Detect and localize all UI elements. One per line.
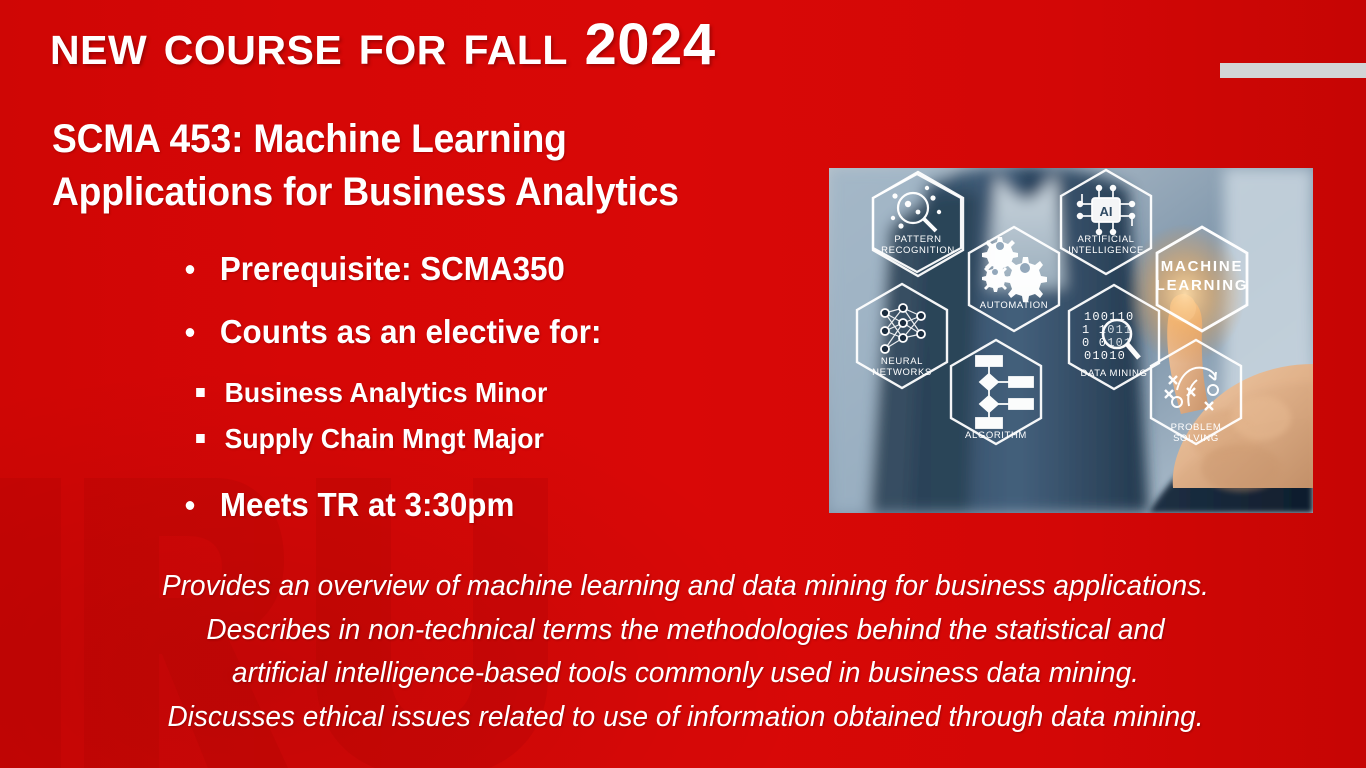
bullet-dot-icon [186,265,195,274]
bullet-list: Prerequisite: SCMA350 Counts as an elect… [180,250,820,549]
description-line-1: Provides an overview of machine learning… [70,565,1300,609]
bullet-label: Counts as an elective for: [220,313,602,350]
hexagon-label-problem-solving-line2: SOLVING [1173,433,1219,444]
hexagon-label-automation: AUTOMATION [980,300,1048,311]
hexagon-label-artificial-intelligence-line1: ARTIFICIAL [1077,234,1134,245]
sub-bullet-label: Supply Chain Mngt Major [225,423,544,454]
slide-canvas: New Course For Fall 2024 SCMA 453: Machi… [0,0,1366,768]
course-description: Provides an overview of machine learning… [70,565,1300,739]
page-title: New Course For Fall 2024 [50,15,716,76]
bullet-square-icon [196,388,205,397]
hexagon-label-pattern-recognition-line1: PATTERN [894,234,941,245]
hexagon-label-machine-learning-line1: MACHINE [1161,258,1244,275]
bullet-square-icon [196,434,205,443]
machine-learning-photo: PATTERN RECOGNITION [829,168,1313,513]
bullet-label: Prerequisite: SCMA350 [220,250,565,287]
accent-bar [1220,63,1366,78]
bullet-dot-icon [186,328,195,337]
bullet-item-prerequisite: Prerequisite: SCMA350 [180,250,788,289]
hexagon-label-problem-solving-line1: PROBLEM [1171,422,1222,433]
description-line-4: Discusses ethical issues related to use … [70,696,1300,740]
sub-bullet-item-ba-minor: Business Analytics Minor [180,376,788,410]
bullet-label: Meets TR at 3:30pm [220,486,514,523]
hexagon-label-neural-networks-line2: NETWORKS [872,367,932,378]
description-line-2: Describes in non-technical terms the met… [70,609,1300,653]
binary-row-4: 01010 [1084,349,1126,363]
hexagon-label-neural-networks-line1: NEURAL [881,356,923,367]
hexagon-label-data-mining: DATA MINING [1081,368,1148,379]
sub-bullet-list: Business Analytics Minor Supply Chain Mn… [180,376,820,456]
bullet-item-meeting-time: Meets TR at 3:30pm [180,486,788,525]
bullet-item-elective: Counts as an elective for: [180,313,788,352]
ai-chip-label: AI [1100,204,1113,219]
hexagon-label-artificial-intelligence-line2: INTELLIGENCE [1068,245,1144,256]
hexagon-label-algorithm: ALGORITHM [965,430,1027,441]
description-line-3: artificial intelligence-based tools comm… [70,652,1300,696]
course-name: SCMA 453: Machine Learning Applications … [52,113,768,219]
bullet-dot-icon [186,501,195,510]
hexagon-label-machine-learning-line2: LEARNING [1156,277,1249,294]
sub-bullet-label: Business Analytics Minor [225,377,548,408]
hexagon-label-pattern-recognition-line2: RECOGNITION [881,245,955,256]
sub-bullet-item-scm-major: Supply Chain Mngt Major [180,422,788,456]
